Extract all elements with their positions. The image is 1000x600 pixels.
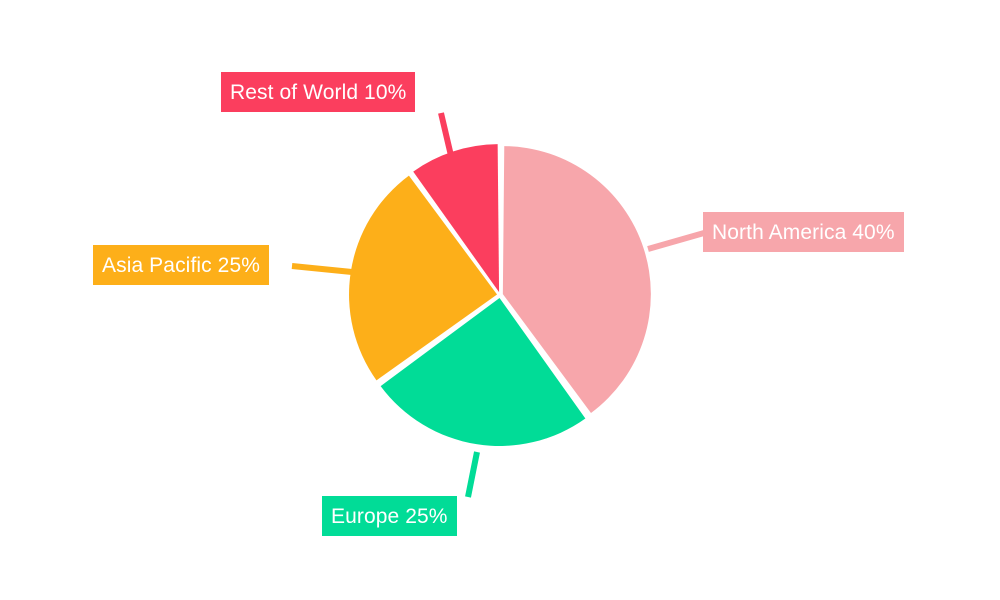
pie-label-europe-text: Europe 25% <box>331 506 448 527</box>
pie-label-north-america[interactable]: North America 40% <box>703 212 904 252</box>
pie-label-rest-of-world-text: Rest of World 10% <box>230 82 406 103</box>
pie-label-asia-pacific-text: Asia Pacific 25% <box>102 255 260 276</box>
leader-line-asia-pacific <box>292 266 352 272</box>
pie-label-rest-of-world[interactable]: Rest of World 10% <box>221 72 415 112</box>
pie-label-europe[interactable]: Europe 25% <box>322 496 457 536</box>
pie-chart-canvas <box>0 0 1000 600</box>
leader-line-north-america <box>648 233 704 249</box>
pie-label-asia-pacific[interactable]: Asia Pacific 25% <box>93 245 269 285</box>
pie-label-north-america-text: North America 40% <box>712 222 895 243</box>
pie-chart-figure: North America 40% Rest of World 10% Asia… <box>0 0 1000 600</box>
leader-line-europe <box>468 452 477 497</box>
pie-slices <box>349 144 651 446</box>
